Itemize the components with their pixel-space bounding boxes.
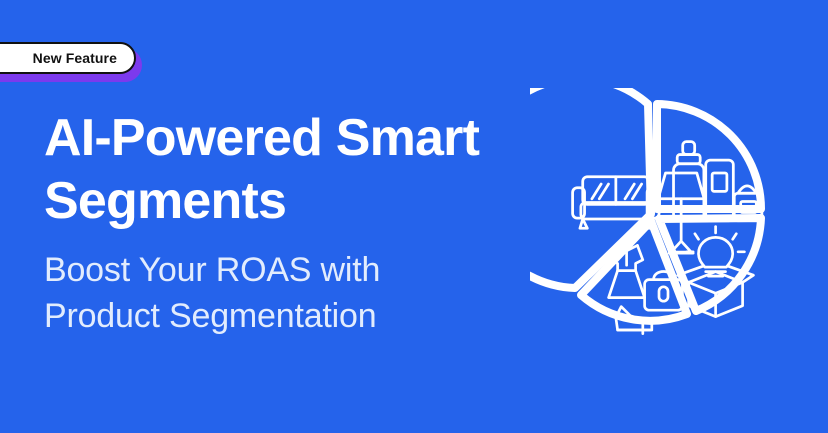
- new-feature-badge[interactable]: New Feature: [0, 42, 138, 78]
- badge-pill[interactable]: New Feature: [0, 42, 136, 74]
- page-title: AI-Powered Smart Segments: [44, 107, 514, 233]
- sofa-lamp-icon: [573, 173, 705, 253]
- lightbulb-box-icon: [678, 227, 754, 317]
- page-subtitle: Boost Your ROAS with Product Segmentatio…: [44, 247, 514, 339]
- pie-slice-new-products: [659, 218, 761, 311]
- badge-label: New Feature: [33, 50, 117, 66]
- hero-text-block: AI-Powered Smart Segments Boost Your ROA…: [44, 107, 514, 339]
- promo-banner: New Feature AI-Powered Smart Segments Bo…: [0, 0, 828, 433]
- product-segmentation-pie-chart: [530, 88, 776, 338]
